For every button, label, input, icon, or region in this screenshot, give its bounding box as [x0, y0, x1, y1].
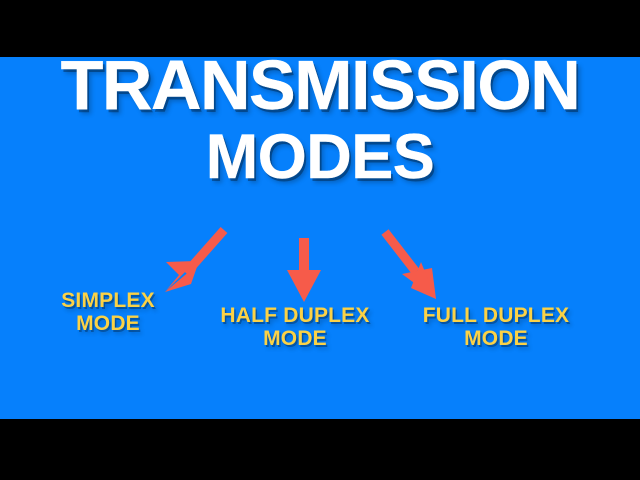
page-title: TRANSMISSION MODES: [0, 50, 640, 189]
mode-label-simplex: SIMPLEX MODE: [18, 290, 198, 335]
slide-canvas: TRANSMISSION MODES SIMPLEX MODE HALF DUP…: [0, 0, 640, 480]
letterbox-bar-bottom: [0, 419, 640, 480]
title-line-2: MODES: [0, 126, 640, 189]
mode-label-full-duplex-line1: FULL DUPLEX: [423, 304, 569, 327]
mode-label-full-duplex: FULL DUPLEX MODE: [396, 305, 596, 350]
title-line-1: TRANSMISSION: [0, 50, 640, 120]
mode-label-full-duplex-line2: MODE: [396, 328, 596, 351]
mode-label-half-duplex-line1: HALF DUPLEX: [220, 304, 369, 327]
mode-label-simplex-line2: MODE: [18, 313, 198, 336]
mode-label-half-duplex-line2: MODE: [195, 328, 395, 351]
mode-label-simplex-line1: SIMPLEX: [61, 289, 155, 312]
letterbox-bar-top: [0, 0, 640, 57]
mode-label-half-duplex: HALF DUPLEX MODE: [195, 305, 395, 350]
